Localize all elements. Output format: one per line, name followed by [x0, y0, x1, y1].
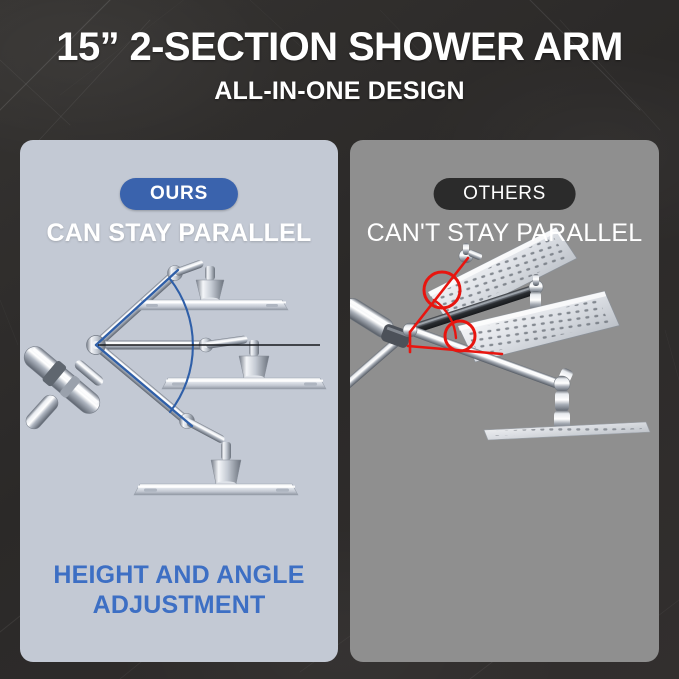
- page-subtitle: ALL-IN-ONE DESIGN: [0, 77, 679, 106]
- arm-middle: [96, 335, 326, 389]
- wall-mount-others: [350, 295, 417, 350]
- arm-upper: [93, 259, 288, 348]
- caption-others: CAN'T STAY PARALLEL: [350, 219, 659, 248]
- footer-line-2: ADJUSTMENT: [20, 591, 338, 621]
- footer-ours: HEIGHT AND ANGLE ADJUSTMENT: [20, 561, 338, 620]
- badge-ours: OURS: [120, 178, 238, 210]
- poster-header: 15” 2-SECTION SHOWER ARM ALL-IN-ONE DESI…: [0, 0, 679, 132]
- panel-ours: OURS CAN STAY PARALLEL: [20, 140, 338, 662]
- comparison-panels: OURS CAN STAY PARALLEL: [20, 140, 659, 662]
- caption-ours: CAN STAY PARALLEL: [20, 219, 338, 248]
- poster-root: 15” 2-SECTION SHOWER ARM ALL-IN-ONE DESI…: [0, 0, 679, 679]
- shower-head-upper: [136, 300, 288, 310]
- shower-head-lower: [134, 484, 298, 495]
- footer-line-1: HEIGHT AND ANGLE: [20, 561, 338, 591]
- panel-others: OTHERS CAN'T STAY PARALLEL: [350, 140, 659, 662]
- page-title: 15” 2-SECTION SHOWER ARM: [0, 26, 679, 68]
- badge-others: OTHERS: [433, 178, 576, 210]
